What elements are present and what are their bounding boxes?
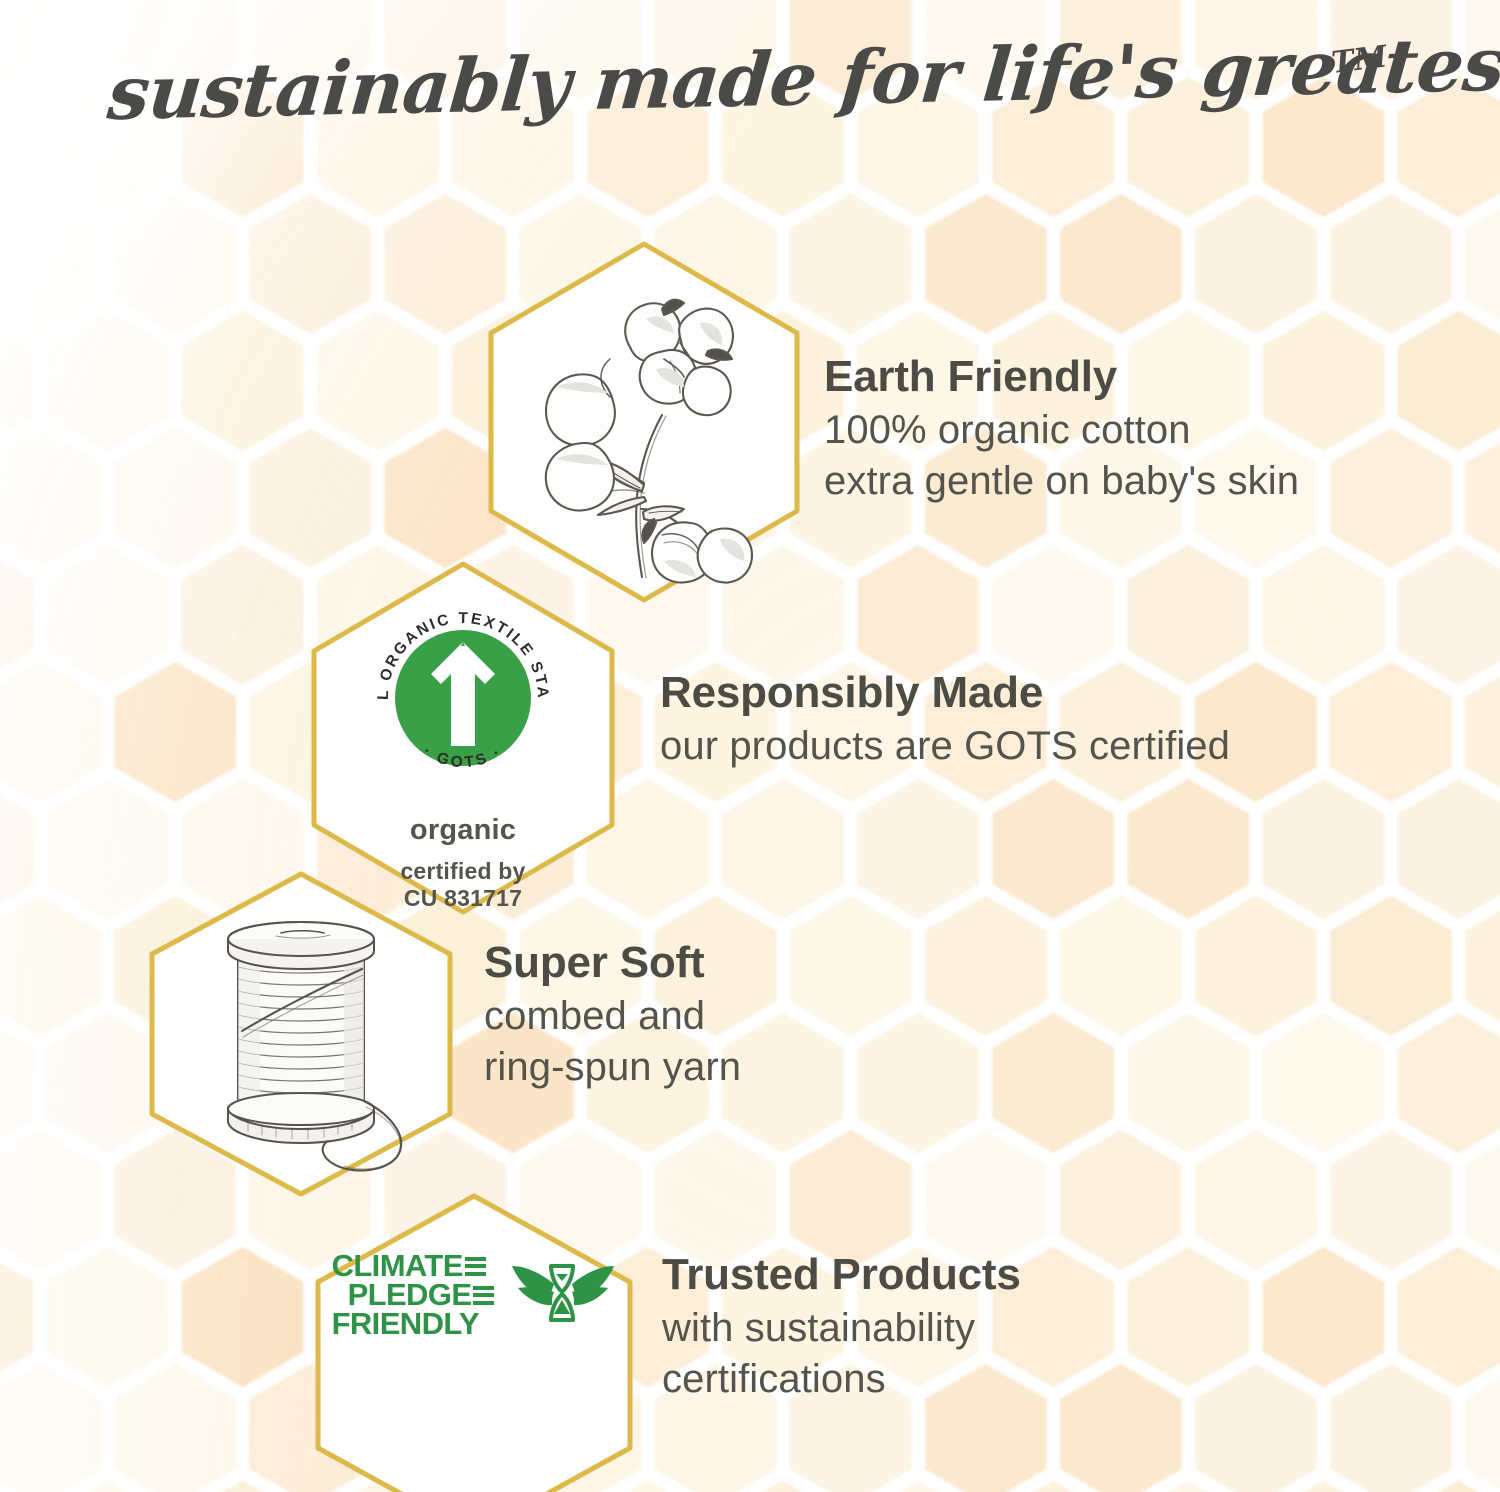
honeycomb-cell (47, 311, 169, 451)
honeycomb-cell (1330, 194, 1452, 334)
honeycomb-cell (790, 896, 912, 1036)
honeycomb-cell (1330, 1130, 1452, 1270)
honeycomb-cell (1128, 545, 1250, 685)
honeycomb-cell (47, 1247, 169, 1387)
feature-text-responsibly-made: Responsibly Made our products are GOTS c… (660, 668, 1230, 772)
feature-title: Responsibly Made (660, 668, 1230, 717)
spool-illustration-holder (146, 868, 456, 1200)
honeycomb-cell (249, 194, 371, 334)
feature-line: extra gentle on baby's skin (824, 456, 1299, 506)
winged-hourglass-icon (510, 1258, 616, 1332)
honeycomb-cell (1330, 428, 1452, 568)
honeycomb-cell (1330, 896, 1452, 1036)
honeycomb-cell (722, 779, 844, 919)
honeycomb-cell (1263, 1247, 1385, 1387)
honeycomb-cell (114, 662, 236, 802)
honeycomb-cell (1195, 896, 1317, 1036)
honeycomb-cell (790, 194, 912, 334)
honeycomb-cell (0, 662, 101, 802)
honeycomb-cell (0, 1364, 101, 1492)
gots-organic-label: organic (410, 816, 516, 845)
honeycomb-cell (993, 545, 1115, 685)
cpf-line-3: FRIENDLY (332, 1310, 479, 1339)
honeycomb-cell (1398, 545, 1500, 685)
feature-line: 100% organic cotton (824, 405, 1299, 455)
honeycomb-cell (925, 194, 1047, 334)
honeycomb-cell (1060, 896, 1182, 1036)
honeycomb-cell (0, 311, 33, 451)
honeycomb-cell (1398, 779, 1500, 919)
honeycomb-cell (114, 194, 236, 334)
feature-title: Super Soft (484, 938, 741, 987)
honeycomb-cell (114, 1364, 236, 1492)
honeycomb-cell (0, 545, 33, 685)
feature-line: our products are GOTS certified (660, 721, 1230, 771)
cotton-illustration-holder (485, 238, 803, 606)
honeycomb-cell (1398, 1013, 1500, 1153)
honeycomb-cell (857, 545, 979, 685)
honeycomb-cell (1060, 194, 1182, 334)
feature-line: with sustainability (662, 1303, 1021, 1353)
honeycomb-cell (0, 1130, 101, 1270)
feature-line: combed and (484, 991, 741, 1041)
honeycomb-cell (1330, 1364, 1452, 1492)
honeycomb-cell (1195, 1364, 1317, 1492)
infographic-page: sustainably made for life's greatest joy… (0, 0, 1500, 1492)
honeycomb-cell (317, 311, 439, 451)
honeycomb-cell (1465, 194, 1500, 334)
honeycomb-cell (1263, 545, 1385, 685)
feature-text-earth-friendly: Earth Friendly 100% organic cotton extra… (824, 352, 1299, 506)
honeycomb-cell (857, 1013, 979, 1153)
honeycomb-cell (1465, 662, 1500, 802)
cotton-branch-icon (494, 247, 794, 597)
honeycomb-cell (1195, 1130, 1317, 1270)
feature-title: Earth Friendly (824, 352, 1299, 401)
hexagon-card-earth-friendly (485, 238, 803, 606)
honeycomb-cell (47, 545, 169, 685)
feature-text-trusted-products: Trusted Products with sustainability cer… (662, 1250, 1021, 1404)
honeycomb-cell (1263, 779, 1385, 919)
headline-label: sustainably made for life's greatest joy (103, 17, 1500, 137)
honeycomb-cell (0, 194, 101, 334)
honeycomb-cell (249, 428, 371, 568)
honeycomb-cell (0, 1247, 33, 1387)
honeycomb-cell (993, 1013, 1115, 1153)
honeycomb-cell (1465, 1364, 1500, 1492)
cpf-bars-1 (465, 1257, 486, 1276)
honeycomb-cell (0, 896, 101, 1036)
headline-script-text: sustainably made for life's greatest joy… (105, 33, 1395, 153)
honeycomb-cell (114, 428, 236, 568)
honeycomb-cell (925, 896, 1047, 1036)
honeycomb-cell (1195, 194, 1317, 334)
honeycomb-cell (182, 545, 304, 685)
feature-line: certifications (662, 1354, 1021, 1404)
honeycomb-cell (1060, 1364, 1182, 1492)
trademark-symbol: TM (1330, 39, 1390, 81)
honeycomb-cell (182, 1247, 304, 1387)
honeycomb-cell (0, 428, 101, 568)
climate-pledge-wordmark: CLIMATE PLEDGE (332, 1252, 495, 1338)
honeycomb-cell (1398, 1247, 1500, 1387)
gots-certification-icon: GLOBAL ORGANIC TEXTILE STANDARD · GOTS · (359, 594, 567, 802)
hexagon-card-responsibly-made: GLOBAL ORGANIC TEXTILE STANDARD · GOTS ·… (308, 558, 618, 918)
honeycomb-cell (1330, 662, 1452, 802)
gots-logo-holder: GLOBAL ORGANIC TEXTILE STANDARD · GOTS ·… (308, 558, 618, 918)
hexagon-card-trusted-products: CLIMATE PLEDGE (312, 1190, 636, 1492)
honeycomb-cell (1465, 428, 1500, 568)
honeycomb-cell (1060, 1130, 1182, 1270)
hexagon-card-super-soft (146, 868, 456, 1200)
honeycomb-cell (1263, 1013, 1385, 1153)
honeycomb-cell (0, 1013, 33, 1153)
cpf-bars-2 (473, 1286, 494, 1305)
honeycomb-cell (1128, 1013, 1250, 1153)
honeycomb-cell (0, 779, 33, 919)
honeycomb-cell (1465, 896, 1500, 1036)
feature-title: Trusted Products (662, 1250, 1021, 1299)
feature-text-super-soft: Super Soft combed and ring-spun yarn (484, 938, 741, 1092)
honeycomb-cell (993, 779, 1115, 919)
honeycomb-cell (857, 779, 979, 919)
honeycomb-cell (1128, 1247, 1250, 1387)
honeycomb-cell (182, 311, 304, 451)
honeycomb-cell (1128, 779, 1250, 919)
thread-spool-icon (176, 889, 426, 1179)
feature-line: ring-spun yarn (484, 1042, 741, 1092)
honeycomb-cell (1398, 311, 1500, 451)
honeycomb-cell (1465, 1130, 1500, 1270)
climate-pledge-logo-holder: CLIMATE PLEDGE (312, 1190, 636, 1492)
headline-banner: sustainably made for life's greatest joy… (0, 28, 1500, 158)
